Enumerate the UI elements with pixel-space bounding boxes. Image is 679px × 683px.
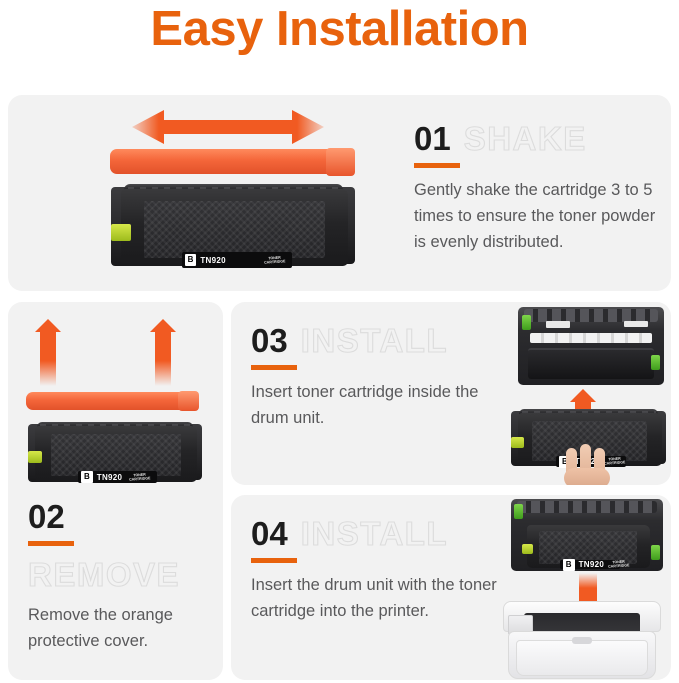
cartridge-type: TONER CARTRIDGE xyxy=(608,559,630,569)
shake-double-arrow-icon xyxy=(130,109,326,145)
step-04-number: 04 xyxy=(251,517,288,551)
illustration-install-drum: B TN920 TONER CARTRIDGE xyxy=(496,304,671,485)
step-02-heading: 02 REMOVE xyxy=(28,500,208,592)
step-01-heading: 01 SHAKE xyxy=(414,122,664,156)
step-02-accent-rule xyxy=(28,541,74,546)
step-03-accent-rule xyxy=(251,365,297,370)
drum-inner-bay xyxy=(528,348,654,379)
cartridge-type: TONER CARTRIDGE xyxy=(264,255,286,265)
printer xyxy=(503,601,661,679)
insert-into-printer-arrow-icon xyxy=(579,573,597,603)
drum-white-comb xyxy=(530,333,653,343)
step-01-word: SHAKE xyxy=(464,122,587,156)
drum-green-lever-right xyxy=(651,355,660,370)
lift-arrow-left-icon xyxy=(40,330,56,386)
drum-green-lever-left xyxy=(522,315,531,330)
step-card-01-shake: B TN920 TONER CARTRIDGE 01 SHAKE Gently … xyxy=(8,95,671,291)
step-01-description: Gently shake the cartridge 3 to 5 times … xyxy=(414,177,664,255)
toner-cartridge-installed: B TN920 TONER CARTRIDGE xyxy=(519,511,655,573)
tray-handle xyxy=(572,637,593,644)
drum-label-right xyxy=(624,321,648,327)
printer-paper-tray xyxy=(516,640,649,676)
step-04-accent-rule xyxy=(251,558,297,563)
cartridge-label: B TN920 TONER CARTRIDGE xyxy=(78,471,157,483)
lift-arrow-right-icon xyxy=(155,330,171,386)
cartridge-label: B TN920 TONER CARTRIDGE xyxy=(182,252,293,269)
step-02-description: Remove the orange protective cover. xyxy=(28,602,208,654)
drum-unit xyxy=(518,307,664,385)
step-02-text: 02 REMOVE Remove the orange protective c… xyxy=(28,500,208,654)
cartridge-face-panel xyxy=(144,201,325,258)
palm xyxy=(564,468,610,485)
toner-cartridge: B TN920 TONER CARTRIDGE xyxy=(24,408,204,488)
step-02-word: REMOVE xyxy=(28,558,180,592)
step-03-heading: 03 INSTALL xyxy=(251,324,501,358)
step-02-number: 02 xyxy=(28,500,65,534)
steps-board: B TN920 TONER CARTRIDGE 01 SHAKE Gently … xyxy=(0,58,679,683)
step-card-03-install: 03 INSTALL Insert toner cartridge inside… xyxy=(231,302,671,485)
step-04-text: 04 INSTALL Insert the drum unit with the… xyxy=(251,517,501,624)
step-01-number: 01 xyxy=(414,122,451,156)
illustration-remove: B TN920 TONER CARTRIDGE xyxy=(12,308,219,494)
illustration-install-printer: B TN920 TONER CARTRIDGE xyxy=(493,497,671,680)
cartridge-green-tab xyxy=(28,451,42,463)
hand-holding-cartridge xyxy=(564,444,610,478)
page-title: Easy Installation xyxy=(0,0,679,58)
step-04-description: Insert the drum unit with the toner cart… xyxy=(251,572,501,624)
step-04-heading: 04 INSTALL xyxy=(251,517,501,551)
step-03-number: 03 xyxy=(251,324,288,358)
step-card-04-install: 04 INSTALL Insert the drum unit with the… xyxy=(231,495,671,680)
cartridge-brand-mark: B xyxy=(185,254,197,266)
step-01-text: 01 SHAKE Gently shake the cartridge 3 to… xyxy=(414,122,664,255)
drum-label-left xyxy=(546,321,570,328)
step-03-word: INSTALL xyxy=(301,324,448,358)
cartridge-green-tab xyxy=(511,437,524,448)
cartridge-model: TN920 xyxy=(200,256,226,265)
step-card-02-remove: B TN920 TONER CARTRIDGE 02 REMOVE Remove… xyxy=(8,302,223,680)
cartridge-green-tab xyxy=(111,224,131,241)
cartridge-model: TN920 xyxy=(97,473,123,482)
cartridge-brand-mark: B xyxy=(563,559,575,571)
step-04-word: INSTALL xyxy=(301,517,448,551)
cartridge-label: B TN920 TONER CARTRIDGE xyxy=(560,560,620,569)
cartridge-type: TONER CARTRIDGE xyxy=(129,472,151,482)
step-01-accent-rule xyxy=(414,163,460,168)
drum-top-rail xyxy=(524,309,658,321)
cartridge-model: TN920 xyxy=(579,560,605,569)
cartridge-brand-mark: B xyxy=(81,471,93,483)
cartridge-face-panel xyxy=(51,434,181,476)
toner-cartridge: B TN920 TONER CARTRIDGE xyxy=(106,165,358,275)
step-03-description: Insert toner cartridge inside the drum u… xyxy=(251,379,501,431)
cartridge-green-tab xyxy=(522,544,533,553)
illustration-shake: B TN920 TONER CARTRIDGE xyxy=(68,103,398,283)
step-03-text: 03 INSTALL Insert toner cartridge inside… xyxy=(251,324,501,431)
